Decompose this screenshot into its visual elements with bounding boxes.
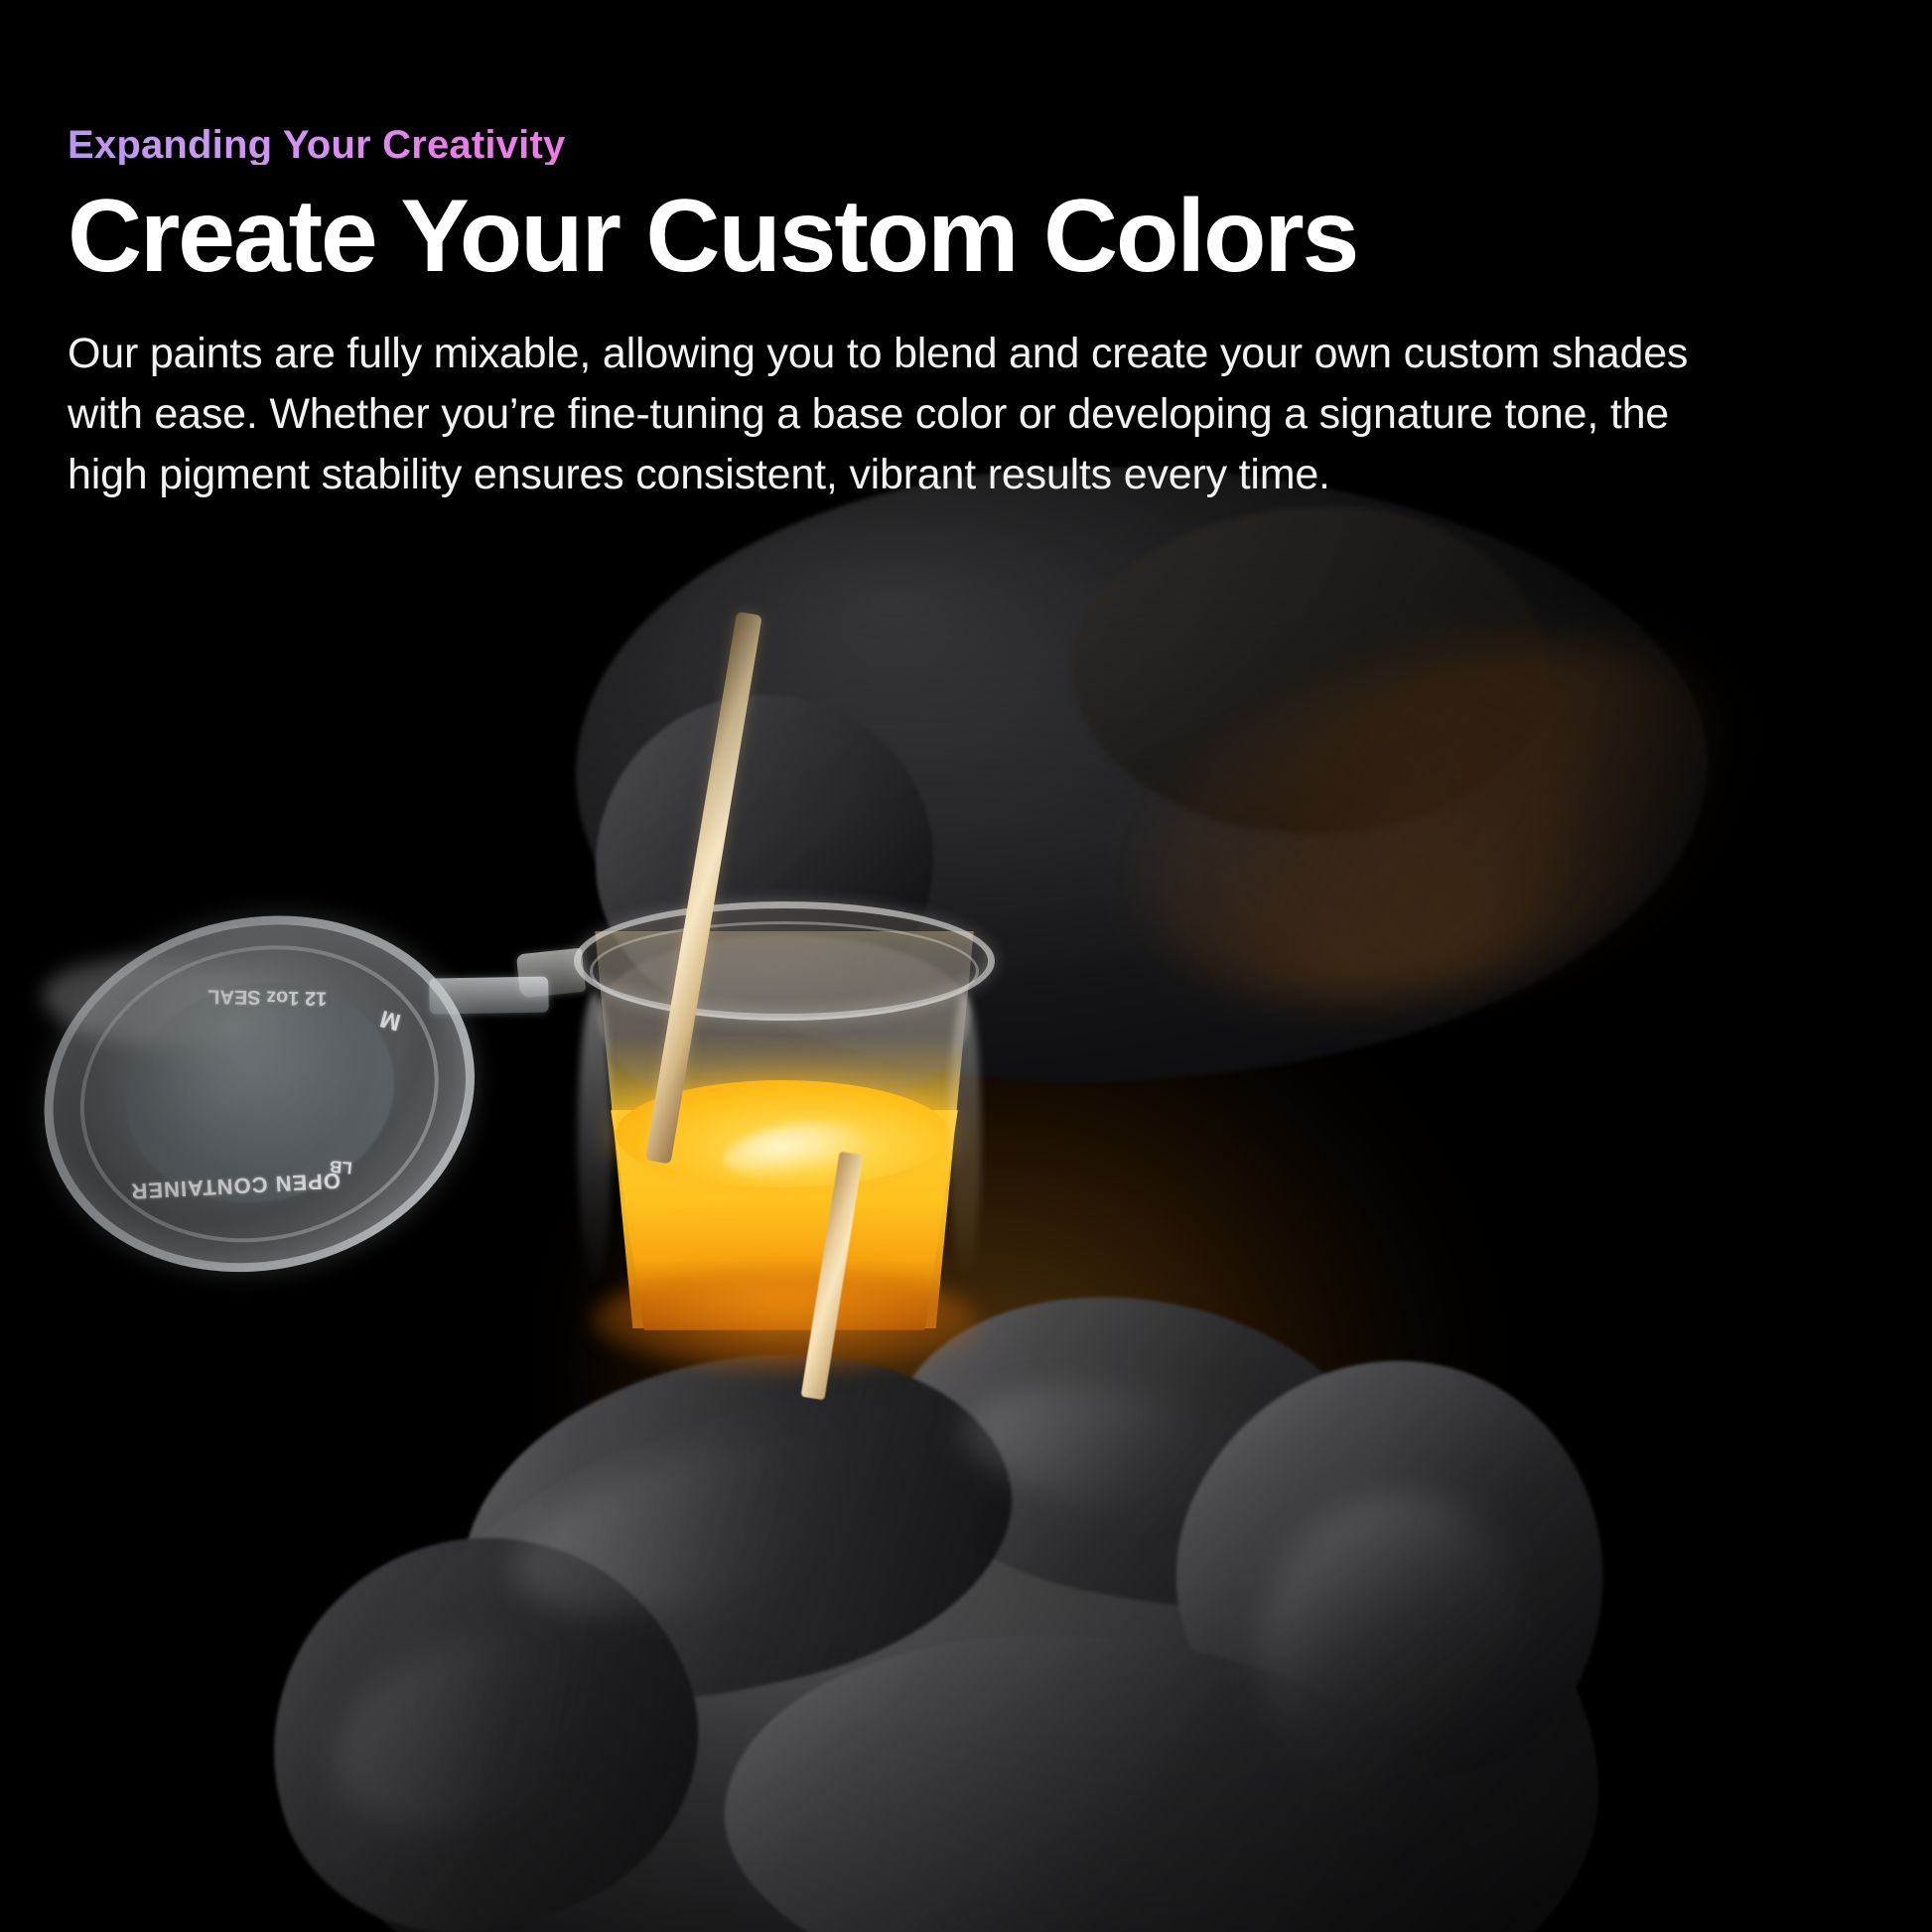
header-text-block: Expanding Your Creativity Create Your Cu…: [68, 125, 1716, 505]
cup-highlight-right: [949, 993, 981, 1281]
page-root: 12 1oz SEAL OPEN CONTAINER M LB Expandin…: [0, 0, 1932, 1932]
cup-rim-inner: [590, 921, 979, 1021]
body-paragraph: Our paints are fully mixable, allowing y…: [68, 324, 1716, 505]
paint-cup: [556, 844, 1013, 1340]
eyebrow-label: Expanding Your Creativity: [68, 125, 565, 165]
product-photo: 12 1oz SEAL OPEN CONTAINER M LB: [0, 467, 1932, 1932]
page-title: Create Your Custom Colors: [68, 183, 1716, 290]
cup-bottom-glow: [592, 1271, 979, 1370]
cup-highlight-left: [578, 993, 612, 1291]
